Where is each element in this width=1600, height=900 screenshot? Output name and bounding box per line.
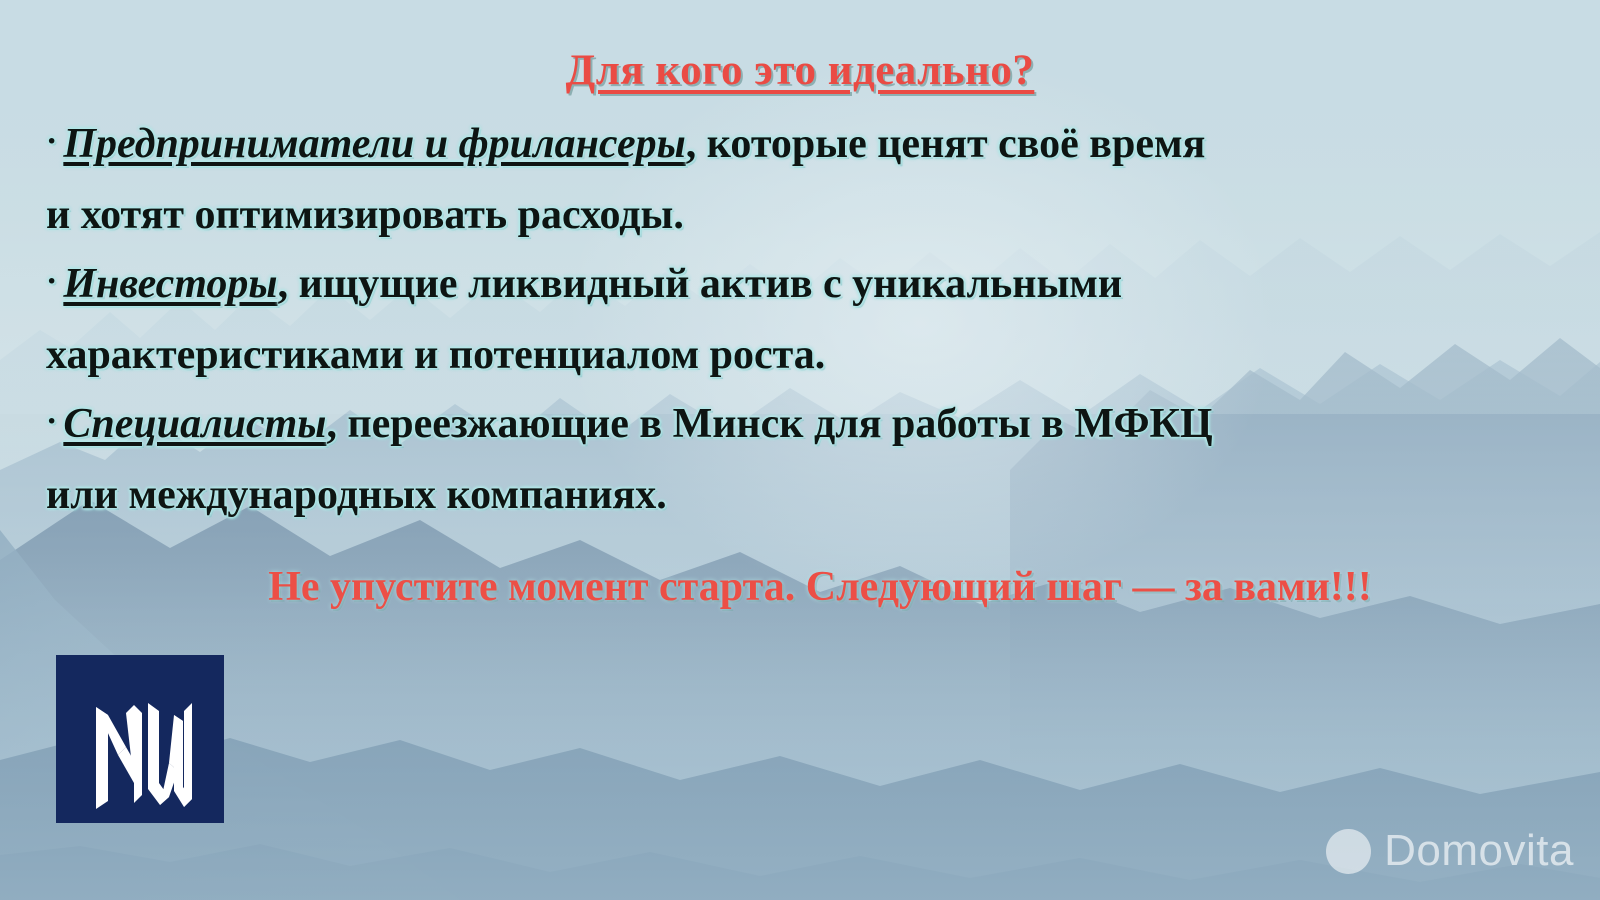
watermark-label: Domovita: [1384, 826, 1574, 876]
bullet-marker-3: ·: [46, 403, 63, 440]
bullet-emphasis-2: Инвесторы: [63, 261, 277, 307]
bullet-emphasis-1: Предприниматели и фрилансеры: [63, 121, 685, 167]
bullet-text-1: , которые ценят своё время: [686, 121, 1206, 167]
slide-canvas: Для кого это идеально? ·Предприниматели …: [0, 0, 1600, 900]
bullet-item-3-line-1: ·Специалисты, переезжающие в Минск для р…: [46, 403, 1566, 445]
call-to-action-text: Не упустите момент старта. Следующий шаг…: [110, 563, 1530, 611]
domovita-watermark: Domovita: [1326, 826, 1574, 876]
page-title: Для кого это идеально?: [0, 46, 1600, 95]
bullet-item-3-line-2: или международных компаниях.: [46, 474, 1566, 516]
brand-logo: [56, 655, 224, 823]
bullet-item-1-line-1: ·Предприниматели и фрилансеры, которые ц…: [46, 123, 1566, 165]
bullet-item-1-line-2: и хотят оптимизировать расходы.: [46, 194, 1566, 236]
circle-icon: [1326, 829, 1371, 874]
bullet-item-2-line-1: ·Инвесторы, ищущие ликвидный актив с уни…: [46, 263, 1566, 305]
bullet-marker-2: ·: [46, 263, 63, 300]
bullet-emphasis-3: Специалисты: [63, 401, 326, 447]
bullet-item-2-line-2: характеристиками и потенциалом роста.: [46, 334, 1566, 376]
slide-content: Для кого это идеально? ·Предприниматели …: [0, 0, 1600, 900]
bullet-marker-1: ·: [46, 123, 63, 160]
page-title-text: Для кого это идеально?: [566, 47, 1035, 94]
bullet-text-2: , ищущие ликвидный актив с уникальными: [278, 261, 1123, 307]
bullet-text-3: , переезжающие в Минск для работы в МФКЦ: [326, 401, 1212, 447]
mw-monogram-icon: [56, 655, 224, 823]
